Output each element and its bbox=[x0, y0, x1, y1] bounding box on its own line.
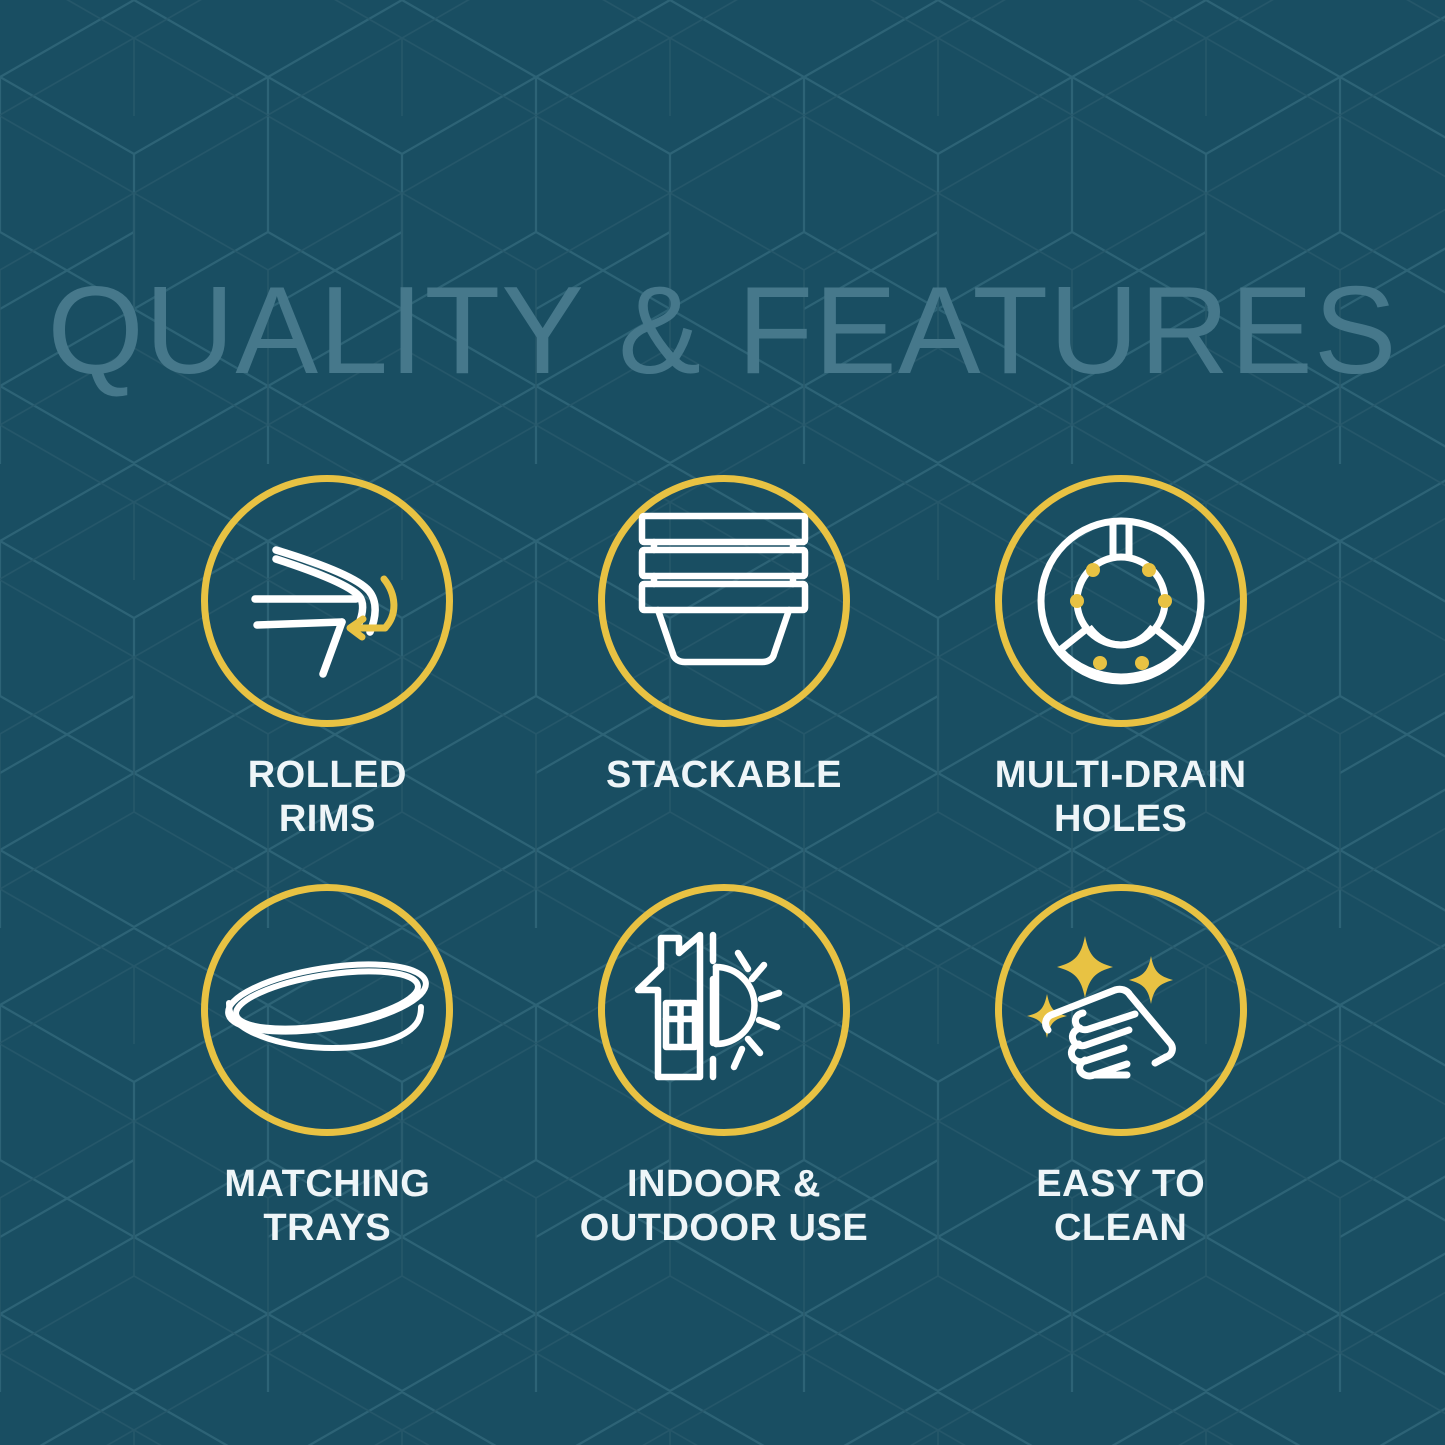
rolled-rims-icon-badge bbox=[201, 475, 453, 727]
feature-item-stackable: STACKABLE bbox=[526, 475, 923, 842]
feature-item-easy-to-clean: EASY TO CLEAN bbox=[922, 884, 1319, 1251]
hand-wiping-sparkle-icon bbox=[1023, 924, 1219, 1096]
feature-label: EASY TO CLEAN bbox=[1036, 1162, 1205, 1251]
multi-drain-holes-icon bbox=[1035, 515, 1207, 687]
feature-label: INDOOR & OUTDOOR USE bbox=[580, 1162, 868, 1251]
feature-infographic: QUALITY & FEATURES bbox=[0, 0, 1445, 1445]
features-grid: ROLLED RIMS bbox=[129, 475, 1319, 1251]
feature-item-indoor-outdoor: INDOOR & OUTDOOR USE bbox=[526, 884, 923, 1251]
stacked-pots-icon bbox=[636, 512, 811, 690]
feature-item-rolled-rims: ROLLED RIMS bbox=[129, 475, 526, 842]
feature-label: STACKABLE bbox=[606, 753, 842, 797]
feature-label: ROLLED RIMS bbox=[248, 753, 407, 842]
house-and-sun-icon bbox=[634, 927, 814, 1092]
feature-label: MATCHING TRAYS bbox=[224, 1162, 430, 1251]
stackable-icon-badge bbox=[598, 475, 850, 727]
feature-item-matching-trays: MATCHING TRAYS bbox=[129, 884, 526, 1251]
multi-drain-holes-icon-badge bbox=[995, 475, 1247, 727]
matching-trays-icon-badge bbox=[201, 884, 453, 1136]
rolled-rim-icon bbox=[232, 506, 422, 696]
oval-tray-icon bbox=[223, 950, 431, 1070]
page-title: QUALITY & FEATURES bbox=[0, 269, 1445, 393]
feature-item-multi-drain-holes: MULTI-DRAIN HOLES bbox=[922, 475, 1319, 842]
feature-label: MULTI-DRAIN HOLES bbox=[995, 753, 1247, 842]
indoor-outdoor-icon-badge bbox=[598, 884, 850, 1136]
easy-to-clean-icon-badge bbox=[995, 884, 1247, 1136]
